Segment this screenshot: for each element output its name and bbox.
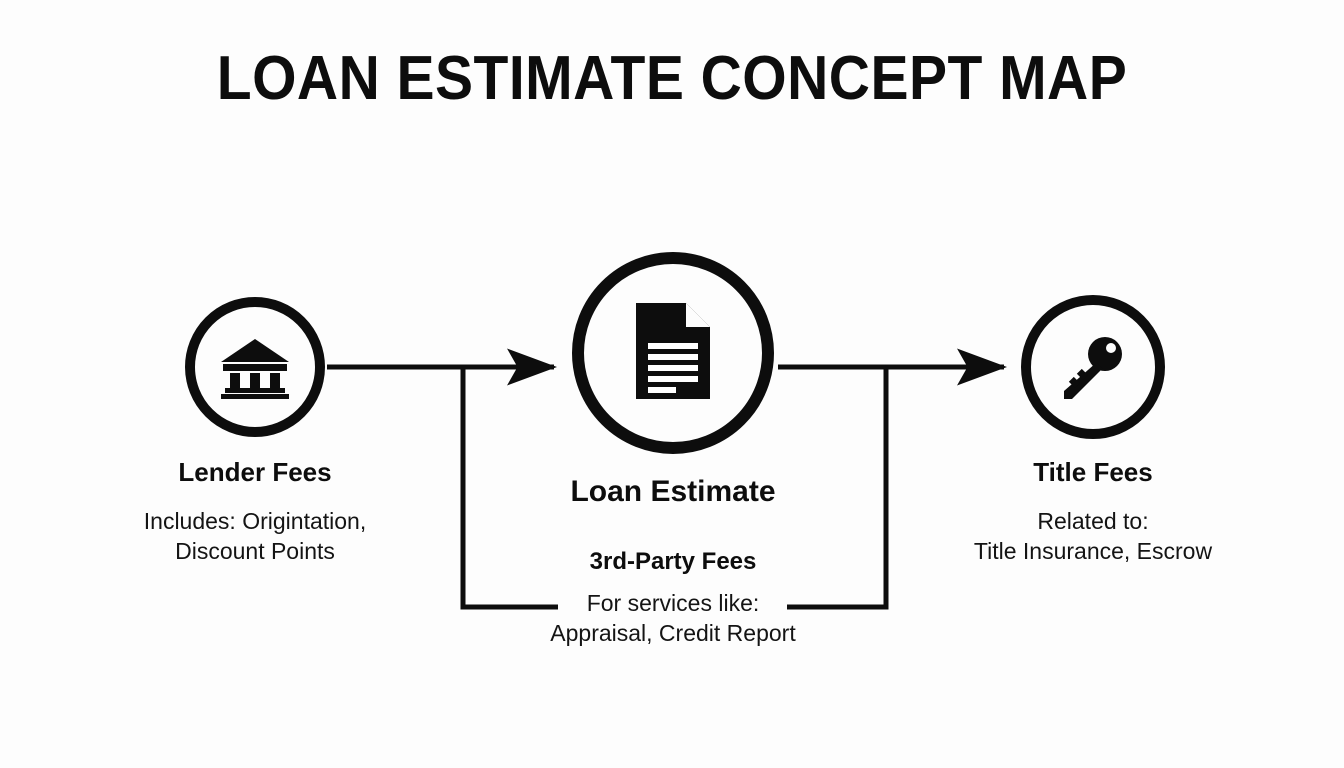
concept-map-canvas: LOAN ESTIMATE CONCEPT MAP <box>0 0 1344 768</box>
key-icon <box>1055 329 1131 405</box>
node-description-line: Title Insurance, Escrow <box>913 536 1273 566</box>
node-description-title-fees: Related to: Title Insurance, Escrow <box>913 506 1273 566</box>
node-label-third-party-fees: 3rd-Party Fees <box>538 547 808 577</box>
node-description-line: Appraisal, Credit Report <box>503 618 843 648</box>
node-description-line: Discount Points <box>75 536 435 566</box>
node-label-title-fees: Title Fees <box>943 456 1243 488</box>
node-title-fees[interactable] <box>1021 295 1165 439</box>
node-loan-estimate[interactable] <box>572 252 774 454</box>
page-title: LOAN ESTIMATE CONCEPT MAP <box>54 46 1290 112</box>
node-label-loan-estimate: Loan Estimate <box>523 474 823 510</box>
node-description-line: For services like: <box>503 588 843 618</box>
node-label-lender-fees: Lender Fees <box>105 456 405 488</box>
node-description-third-party-fees: For services like: Appraisal, Credit Rep… <box>503 588 843 648</box>
bank-icon <box>219 335 291 399</box>
node-lender-fees[interactable] <box>185 297 325 437</box>
document-icon <box>630 301 716 405</box>
node-description-line: Related to: <box>913 506 1273 536</box>
node-description-line: Includes: Origintation, <box>75 506 435 536</box>
node-description-lender-fees: Includes: Origintation, Discount Points <box>75 506 435 566</box>
